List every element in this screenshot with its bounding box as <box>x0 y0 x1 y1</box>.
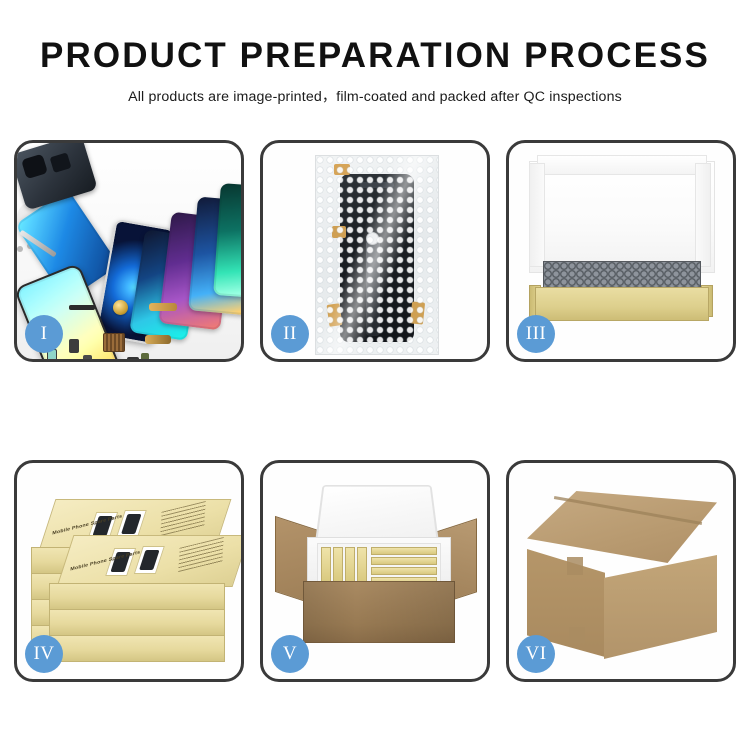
inner-box-7 <box>371 567 437 575</box>
step-badge-6: VI <box>517 635 555 673</box>
step-badge-5: V <box>271 635 309 673</box>
stacked-box-f3 <box>49 635 225 662</box>
flex-cable-1-icon <box>149 303 177 311</box>
stacked-box-f2 <box>49 609 225 636</box>
component-2-icon <box>83 355 92 362</box>
component-1-icon <box>69 339 79 353</box>
inner-box-3 <box>345 547 355 583</box>
process-step-3: III <box>506 140 736 362</box>
carton-body-shading <box>303 581 455 643</box>
carton-tape-upper <box>567 557 583 575</box>
screws-icon <box>17 246 23 252</box>
antenna-bar-icon <box>69 305 95 310</box>
foam-lid <box>315 485 439 543</box>
inner-box-1 <box>321 547 331 583</box>
box-base-front <box>535 287 709 321</box>
step-badge-1: I <box>25 315 63 353</box>
step-badge-4: IV <box>25 635 63 673</box>
preparation-process-infographic: PRODUCT PREPARATION PROCESS All products… <box>0 0 750 750</box>
process-step-4: Mobile Phone Spare Parts Mobile Phone Sp… <box>14 460 244 682</box>
inner-box-5 <box>371 547 437 555</box>
step-badge-2: II <box>271 315 309 353</box>
component-4-icon <box>141 353 149 362</box>
phone-back-housing-icon <box>14 140 98 211</box>
box-lid-top-edge <box>537 155 707 175</box>
inner-box-2 <box>333 547 343 583</box>
page-subtitle: All products are image-printed，film-coat… <box>0 86 750 106</box>
step-badge-3: III <box>517 315 555 353</box>
box-print-text-block-front <box>178 537 224 573</box>
inner-box-4 <box>357 547 367 583</box>
box-lid-flap-right <box>695 163 711 267</box>
component-3-icon <box>127 357 139 362</box>
box-lid-top-front: Mobile Phone Spare Parts <box>57 535 244 587</box>
box-print-text-block-back <box>160 501 206 537</box>
chip-grid-icon <box>103 333 125 352</box>
process-step-2: II <box>260 140 490 362</box>
flex-cable-2-icon <box>145 335 171 344</box>
plastic-sheen <box>316 156 438 354</box>
stacked-box-f1 <box>49 583 225 610</box>
process-step-5: V <box>260 460 490 682</box>
process-step-1: I <box>14 140 244 362</box>
process-step-grid: I II <box>14 140 736 688</box>
inner-box-6 <box>371 557 437 565</box>
carton-tape-lower <box>569 627 585 643</box>
box-lid-flap-left <box>529 163 545 267</box>
header: PRODUCT PREPARATION PROCESS All products… <box>0 0 750 106</box>
page-title: PRODUCT PREPARATION PROCESS <box>0 38 750 75</box>
carton-top-face <box>527 491 717 563</box>
box-lid-panel <box>529 161 715 273</box>
speaker-coil-icon <box>113 300 128 315</box>
bubble-wrap-bag <box>315 155 439 355</box>
process-step-6: VI <box>506 460 736 682</box>
carton-right-face <box>604 555 717 659</box>
